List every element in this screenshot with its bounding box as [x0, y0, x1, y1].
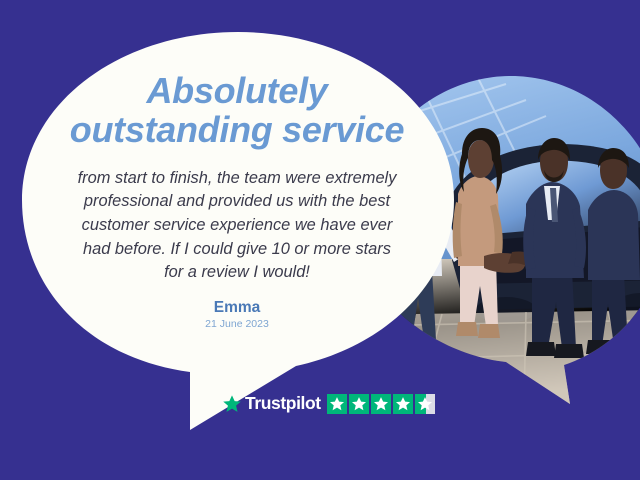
body-line-2: professional and provided us with the be… [48, 190, 426, 214]
testimonial-content: Absolutely outstanding service from star… [30, 72, 444, 330]
body-line-3: customer service experience we have ever [48, 214, 426, 238]
testimonial-body: from start to finish, the team were extr… [48, 167, 426, 285]
rating-star-3 [371, 394, 391, 414]
headline-line-1: Absolutely [30, 72, 444, 111]
rating-star-1 [327, 394, 347, 414]
star-icon [395, 396, 411, 412]
testimonial-headline: Absolutely outstanding service [30, 72, 444, 150]
trustpilot-star-icon [222, 394, 242, 414]
rating-star-4 [393, 394, 413, 414]
body-line-5: for a review I would! [48, 261, 426, 285]
body-line-4: had before. If I could give 10 or more s… [48, 238, 426, 262]
testimonial-graphic: Absolutely outstanding service from star… [0, 0, 640, 480]
review-date: 21 June 2023 [30, 318, 444, 330]
trustpilot-star-rating [327, 394, 435, 414]
author-name: Emma [30, 299, 444, 317]
headline-line-2: outstanding service [30, 111, 444, 150]
rating-star-2 [349, 394, 369, 414]
rating-star-5 [415, 394, 435, 414]
star-icon [351, 396, 367, 412]
star-icon [417, 396, 433, 412]
trustpilot-wordmark: Trustpilot [245, 395, 321, 413]
star-icon [329, 396, 345, 412]
body-line-1: from start to finish, the team were extr… [48, 167, 426, 191]
star-icon [373, 396, 389, 412]
trustpilot-badge[interactable]: Trustpilot [222, 391, 435, 417]
trustpilot-logo[interactable]: Trustpilot [222, 394, 321, 414]
